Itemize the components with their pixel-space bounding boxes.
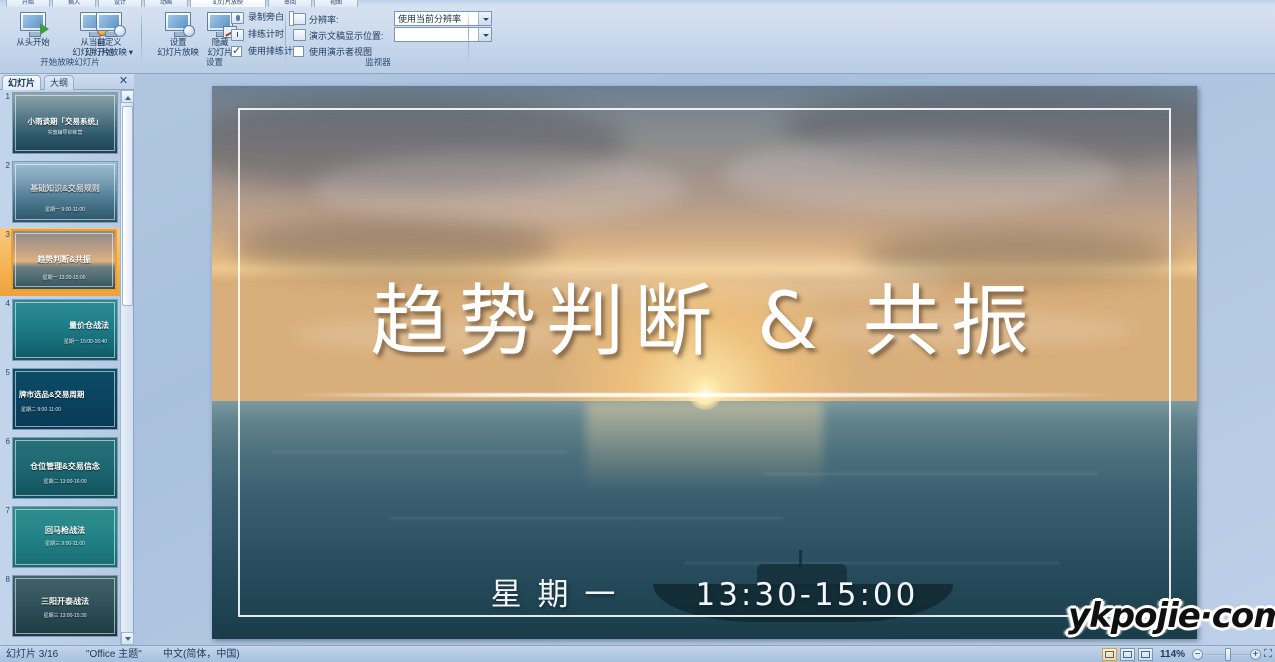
record-narration-icon (231, 12, 244, 24)
zoom-slider-knob[interactable] (1225, 648, 1231, 661)
thumb-sub: 星期三 13:00-15:30 (13, 612, 117, 619)
status-language[interactable]: 中文(简体，中国) (163, 648, 240, 661)
slide-editing-stage[interactable]: 趋势判断 & 共振 星 期 一 13:30-15:00 (134, 74, 1275, 645)
view-slide-sorter-button[interactable] (1120, 648, 1135, 661)
ribbon-tab-3[interactable]: 动画 (144, 0, 188, 7)
pane-tab-bar: 幻灯片 大纲 ✕ (0, 74, 134, 90)
slide-thumbnail-4[interactable]: 4 量价仓战法 星期一 15:00-16:40 (0, 297, 120, 365)
custom-show-icon (92, 10, 126, 38)
ribbon-tab-1[interactable]: 插入 (52, 0, 96, 7)
rehearse-timings-label: 排练计时 (248, 27, 284, 42)
slide-number: 4 (1, 299, 10, 308)
resolution-label: 分辨率: (309, 13, 339, 26)
thumb-title: 牌市选品&交易周期 (13, 389, 117, 400)
ribbon-group-separator-2 (285, 10, 286, 66)
slide-number: 8 (1, 575, 10, 584)
slide-number: 6 (1, 437, 10, 446)
show-on-icon (293, 29, 306, 41)
thumb-title: 仓位管理&交易信念 (13, 461, 117, 472)
rehearse-timings-icon (231, 29, 244, 41)
slides-pane: 幻灯片 大纲 ✕ 1 小雨谈期「交易系统」 实盘辅导训练营 2 基础知识&交易规… (0, 74, 134, 645)
show-on-combo[interactable] (394, 27, 492, 42)
status-bar: 幻灯片 3/16 "Office 主题" 中文(简体，中国) 114% − + … (0, 645, 1275, 662)
slide-number: 2 (1, 161, 10, 170)
resolution-combo-value: 使用当前分辨率 (398, 14, 461, 24)
slides-pane-scrollbar[interactable] (120, 90, 133, 645)
slide-number: 1 (1, 92, 10, 101)
thumb-sub: 星期一 15:00-16:40 (13, 338, 117, 345)
slide-thumbnail-8[interactable]: 8 三阳开泰战法 星期三 13:00-15:30 (0, 573, 120, 641)
zoom-level-label[interactable]: 114% (1160, 648, 1185, 661)
status-theme[interactable]: "Office 主题" (86, 648, 142, 661)
chevron-down-icon[interactable] (478, 12, 491, 25)
scroll-up-icon[interactable] (121, 90, 134, 103)
zoom-in-button[interactable]: + (1250, 649, 1261, 660)
tab-slides[interactable]: 幻灯片 (2, 75, 41, 90)
ribbon-tab-strip: 开始 插入 设计 动画 幻灯片放映 审阅 视图 (0, 0, 1275, 7)
thumb-title: 回马枪战法 (13, 525, 117, 536)
tab-outline[interactable]: 大纲 (44, 75, 74, 90)
scroll-down-icon[interactable] (121, 632, 134, 645)
from-beginning-label: 从头开始 (2, 38, 64, 48)
thumb-title: 量价仓战法 (13, 320, 117, 331)
slide-thumbnail-7[interactable]: 7 回马枪战法 星期三 9:00-11:00 (0, 504, 120, 572)
thumb-title: 趋势判断&共振 (13, 254, 115, 265)
custom-show-button[interactable]: 自定义 幻灯片放映 ▾ (78, 9, 140, 63)
show-on-label: 演示文稿显示位置: (309, 29, 384, 42)
powerpoint-window: 开始 插入 设计 动画 幻灯片放映 审阅 视图 从头开始 从当前 幻灯片开始 (0, 0, 1275, 662)
slide-number: 5 (1, 368, 10, 377)
chevron-down-icon[interactable] (478, 28, 491, 41)
scroll-thumb[interactable] (122, 106, 133, 306)
ribbon-group-separator-1 (141, 10, 142, 66)
group-label-setup: 设置 (145, 56, 284, 68)
ribbon-tab-6[interactable]: 视图 (314, 0, 358, 7)
ribbon-group-setup: 设置 幻灯片放映 隐藏 幻灯片 录制旁白 排练计时 使用排练计时 设置 (145, 7, 284, 67)
thumb-sub: 星期一 13:30-15:00 (13, 274, 115, 281)
site-watermark: ykpojie·com (1068, 596, 1275, 636)
slide-title[interactable]: 趋势判断 & 共振 (212, 259, 1197, 371)
slide-thumbnail-5[interactable]: 牌市选品&交易周期 星期二 9:00-11:00 5 (0, 366, 120, 434)
thumb-title: 三阳开泰战法 (13, 596, 117, 607)
current-slide[interactable]: 趋势判断 & 共振 星 期 一 13:30-15:00 (212, 86, 1197, 639)
close-pane-icon[interactable]: ✕ (117, 75, 130, 88)
ribbon-tab-5[interactable]: 审阅 (268, 0, 312, 7)
group-label-start-show: 开始放映幻灯片 (0, 56, 140, 68)
ribbon-tab-2[interactable]: 设计 (98, 0, 142, 7)
slide-subtitle[interactable]: 星 期 一 13:30-15:00 (212, 569, 1197, 614)
from-beginning-button[interactable]: 从头开始 (2, 9, 64, 63)
thumb-sub: 星期二 9:00-11:00 (13, 406, 117, 413)
ribbon-group-separator-3 (468, 10, 469, 66)
ribbon-tab-4[interactable]: 幻灯片放映 (190, 0, 266, 7)
fit-to-window-button[interactable]: ⛶ (1261, 648, 1275, 661)
slide-number: 3 (1, 230, 10, 239)
thumb-title: 基础知识&交易规则 (13, 183, 117, 194)
ribbon-tab-0[interactable]: 开始 (6, 0, 50, 7)
view-normal-button[interactable] (1102, 648, 1117, 661)
zoom-out-button[interactable]: − (1192, 649, 1203, 660)
group-label-monitors: 监视器 (289, 56, 467, 68)
ribbon-group-start-show: 从头开始 从当前 幻灯片开始 自定义 幻灯片放映 ▾ 开始放映幻灯片 (0, 7, 140, 67)
from-beginning-icon (16, 10, 50, 38)
slide-thumbnail-1[interactable]: 1 小雨谈期「交易系统」 实盘辅导训练营 (0, 90, 120, 158)
thumb-sub: 星期一 9:00-11:00 (13, 206, 117, 213)
view-slideshow-button[interactable] (1138, 648, 1153, 661)
thumb-sub: 星期二 13:00-16:00 (13, 478, 117, 485)
resolution-icon (293, 13, 306, 25)
slide-number: 7 (1, 506, 10, 515)
slide-thumbnail-list[interactable]: 1 小雨谈期「交易系统」 实盘辅导训练营 2 基础知识&交易规则 星期一 9:0… (0, 90, 120, 645)
thumb-sub: 实盘辅导训练营 (13, 129, 117, 136)
slide-thumbnail-6[interactable]: 6 仓位管理&交易信念 星期二 13:00-16:00 (0, 435, 120, 503)
slide-thumbnail-3[interactable]: 3 趋势判断&共振 星期一 13:30-15:00 (0, 228, 120, 296)
ribbon: 开始 插入 设计 动画 幻灯片放映 审阅 视图 从头开始 从当前 幻灯片开始 (0, 0, 1275, 74)
slide-thumbnail-2[interactable]: 2 基础知识&交易规则 星期一 9:00-11:00 (0, 159, 120, 227)
status-slide-counter[interactable]: 幻灯片 3/16 (6, 648, 58, 661)
resolution-combo[interactable]: 使用当前分辨率 (394, 11, 492, 26)
thumb-title: 小雨谈期「交易系统」 (13, 116, 117, 127)
record-narration-label: 录制旁白 (248, 10, 284, 25)
thumb-sub: 星期三 9:00-11:00 (13, 540, 117, 547)
custom-show-label: 自定义 幻灯片放映 ▾ (78, 38, 140, 57)
